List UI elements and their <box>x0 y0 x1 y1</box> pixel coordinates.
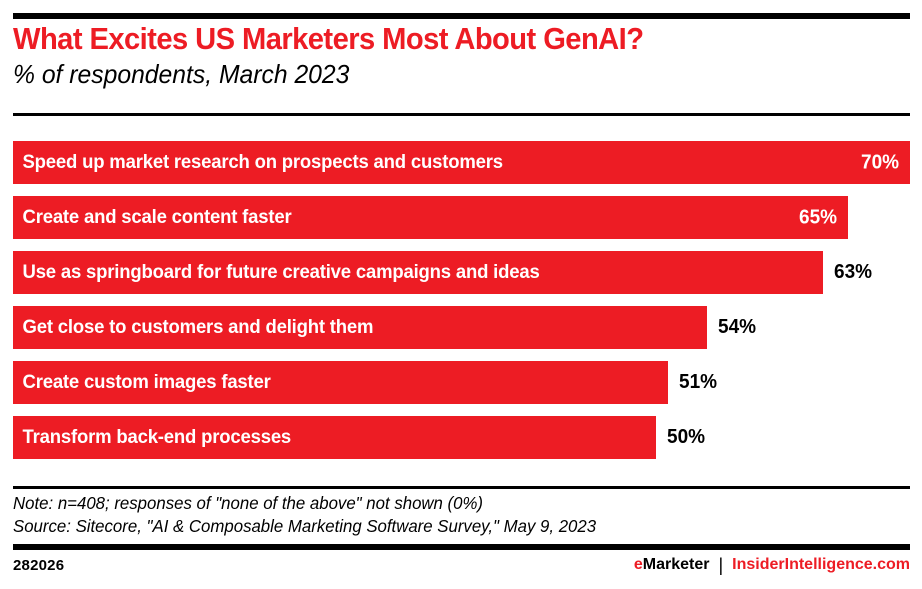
chart-card: What Excites US Marketers Most About Gen… <box>0 0 922 589</box>
bar-value-label: 63% <box>834 261 872 284</box>
note-text: Note: n=408; responses of "none of the a… <box>13 492 874 515</box>
footer-rule <box>13 544 910 550</box>
note-top-rule <box>13 486 910 489</box>
chart-subtitle: % of respondents, March 2023 <box>13 61 865 88</box>
bar-get-close-to-customers[interactable]: Get close to customers and delight them <box>13 306 707 349</box>
bar-category-label: Create custom images faster <box>13 371 271 394</box>
chart-notes: Note: n=408; responses of "none of the a… <box>13 492 910 538</box>
brand-separator: | <box>718 556 723 574</box>
bar-category-label: Get close to customers and delight them <box>13 316 373 339</box>
bar-value-label: 54% <box>718 316 756 339</box>
bar-value-label: 50% <box>667 426 705 449</box>
bar-category-label: Transform back-end processes <box>13 426 291 449</box>
bar-category-label: Create and scale content faster <box>13 206 292 229</box>
subtitle-rule <box>13 113 910 116</box>
insider-intelligence-link[interactable]: InsiderIntelligence.com <box>732 556 910 574</box>
bar-row: Transform back-end processes 50% <box>13 416 910 459</box>
bar-row: Speed up market research on prospects an… <box>13 141 910 184</box>
bar-speed-up-market-research[interactable]: Speed up market research on prospects an… <box>13 141 910 184</box>
bar-create-and-scale-content-faster[interactable]: Create and scale content faster 65% <box>13 196 848 239</box>
brand-lockup: eMarketer | InsiderIntelligence.com <box>634 556 910 574</box>
emarketer-logo-text: Marketer <box>643 556 710 574</box>
chart-header: What Excites US Marketers Most About Gen… <box>13 22 910 89</box>
source-text: Source: Sitecore, "AI & Composable Marke… <box>13 515 874 538</box>
chart-footer: 282026 eMarketer | InsiderIntelligence.c… <box>13 556 910 574</box>
bar-create-custom-images-faster[interactable]: Create custom images faster <box>13 361 668 404</box>
bar-row: Use as springboard for future creative c… <box>13 251 910 294</box>
chart-id: 282026 <box>13 557 64 574</box>
bar-value-label: 65% <box>799 206 837 229</box>
bar-chart-plot-area: Speed up market research on prospects an… <box>13 141 910 479</box>
bar-row: Create and scale content faster 65% 65% <box>13 196 910 239</box>
emarketer-logo-e: e <box>634 556 643 574</box>
bar-category-label: Use as springboard for future creative c… <box>13 261 540 284</box>
top-rule <box>13 13 910 19</box>
chart-title: What Excites US Marketers Most About Gen… <box>13 22 856 55</box>
bar-row: Create custom images faster 51% <box>13 361 910 404</box>
bar-use-as-springboard[interactable]: Use as springboard for future creative c… <box>13 251 823 294</box>
bar-value-label: 70% <box>861 151 899 174</box>
bar-category-label: Speed up market research on prospects an… <box>13 151 503 174</box>
bar-value-label: 51% <box>679 371 717 394</box>
bar-transform-back-end-processes[interactable]: Transform back-end processes <box>13 416 656 459</box>
bar-row: Get close to customers and delight them … <box>13 306 910 349</box>
